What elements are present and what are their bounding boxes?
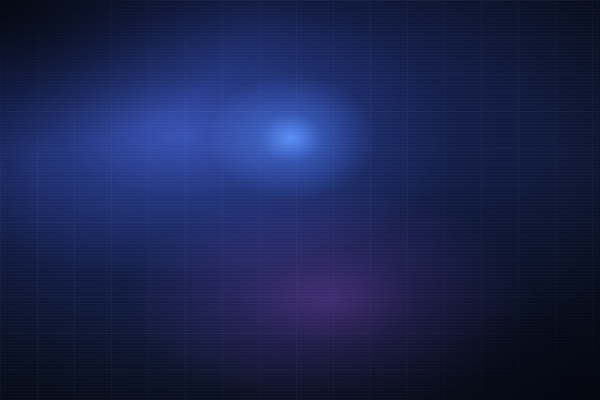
background-vignette [0, 0, 600, 400]
background-grid-overlay [0, 0, 600, 400]
background-purple-glow [0, 0, 600, 400]
background-highlight-spot [0, 0, 600, 400]
candlestick-chart-artwork [0, 0, 600, 400]
promo-banner-image [0, 0, 600, 400]
background-base-gradient [0, 0, 600, 400]
background-corner-shading [0, 0, 600, 400]
background-blue-glow [0, 0, 600, 400]
background-scanline-overlay [0, 0, 600, 400]
